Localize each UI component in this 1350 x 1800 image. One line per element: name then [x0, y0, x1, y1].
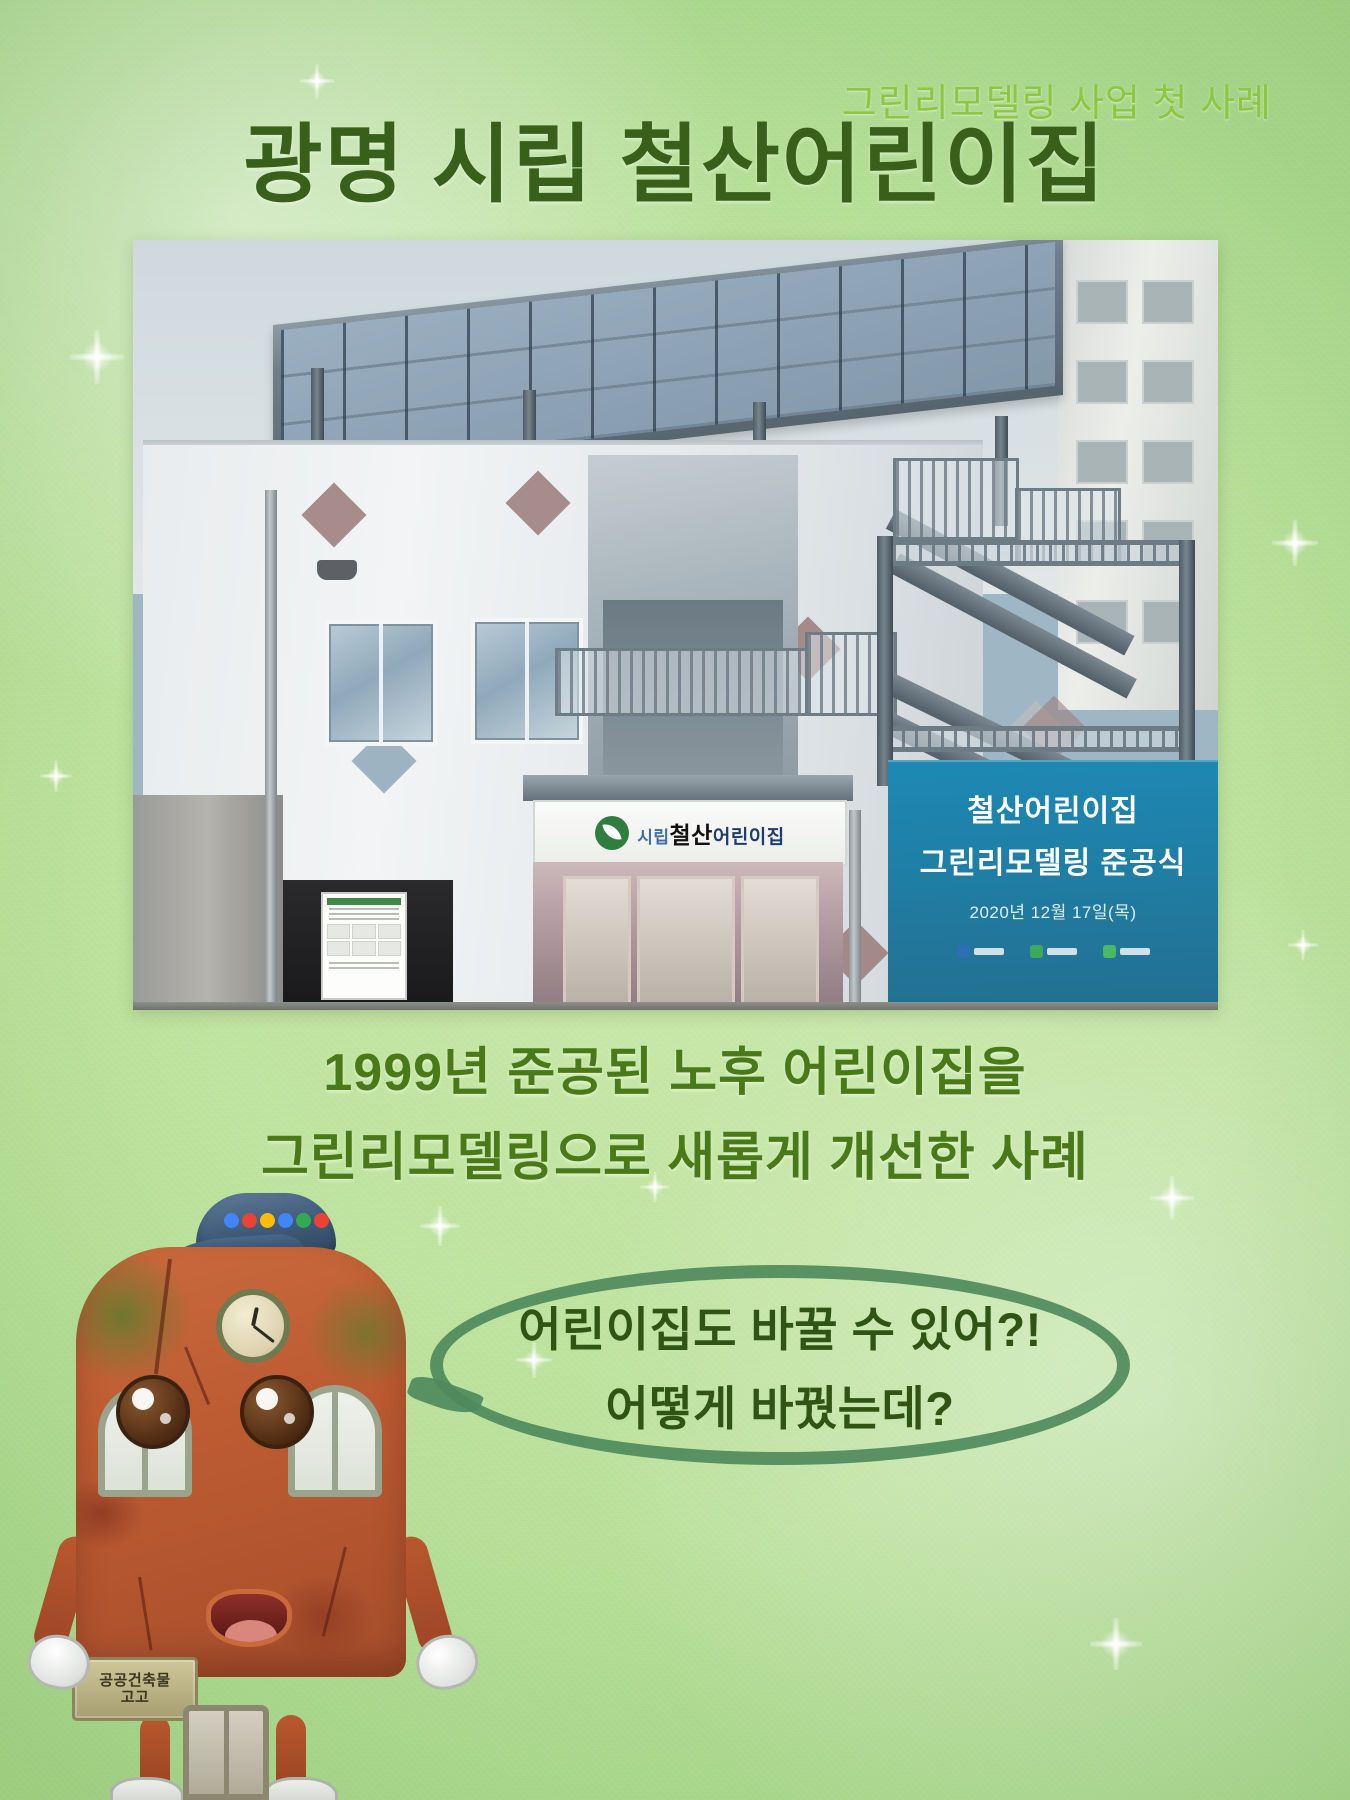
sparkle-icon [1090, 1618, 1142, 1670]
banner-line-1: 철산어린이집 [967, 786, 1139, 830]
stair-column [1179, 540, 1195, 770]
ceremony-banner: 철산어린이집 그린리모델링 준공식 2020년 12월 17일(목) [888, 760, 1218, 1010]
bubble-line-2: 어떻게 바꿨는데? [606, 1370, 955, 1439]
wall-lamp-icon [317, 560, 357, 580]
entrance-glass-panel [741, 876, 819, 1008]
nameplate-line-1: 공공건축물 [99, 1672, 171, 1689]
wall-crack [154, 1259, 172, 1375]
bubble-line-1: 어린이집도 바꿀 수 있어?! [518, 1291, 1041, 1360]
speech-bubble: 어린이집도 바꿀 수 있어?! 어떻게 바꿨는데? [430, 1265, 1130, 1465]
entrance-canopy [523, 775, 853, 801]
caption-line-2: 그린리모델링으로 새롭게 개선한 사례 [0, 1115, 1350, 1190]
mascot-pupil-right [240, 1375, 314, 1449]
poster-canvas: 그린리모델링 사업 첫 사례 광명 시립 철산어린이집 [0, 0, 1350, 1800]
entrance-glass-panel [637, 876, 735, 1008]
speech-bubble-text: 어린이집도 바꿀 수 있어?! 어떻게 바꿨는데? [430, 1265, 1130, 1465]
sparkle-icon [70, 330, 124, 384]
mascot-door [183, 1705, 269, 1800]
building-photo: 시립철산어린이집 [133, 240, 1218, 1010]
stair-landing-deck [893, 540, 1193, 566]
mascot-nameplate: 공공건축물 고고 [72, 1657, 198, 1721]
nameplate-line-2: 고고 [121, 1689, 150, 1706]
sign-prefix: 시립 [637, 828, 669, 847]
wall-crack [322, 1547, 347, 1637]
page-title: 광명 시립 철산어린이집 [0, 122, 1350, 208]
banner-date: 2020년 12월 17일(목) [970, 898, 1137, 923]
stair-landing-deck [889, 726, 1189, 752]
nursery-logo-icon [595, 816, 629, 850]
sparkle-icon [300, 64, 334, 98]
mascot-mouth [206, 1589, 292, 1647]
photo-content: 시립철산어린이집 [133, 240, 1218, 1010]
entrance-sign-text: 시립철산어린이집 [637, 816, 785, 850]
stair-column [877, 536, 893, 786]
balcony-railing [555, 648, 811, 716]
stair-landing-railing [893, 458, 1019, 540]
banner-sponsor-logos [957, 945, 1150, 958]
mascot-pupil-left [116, 1375, 190, 1449]
mascot-shoe-left [110, 1777, 184, 1800]
ground-line [133, 1002, 1218, 1010]
mascot-shoe-right [264, 1777, 338, 1800]
downpipe [849, 810, 861, 1010]
cap-logo-icon [224, 1213, 329, 1228]
left-base-wall [133, 795, 283, 1010]
mascot-character: 공공건축물 고고 [28, 1185, 488, 1800]
sign-suffix: 어린이집 [713, 827, 785, 848]
mascot-clock-icon [216, 1289, 290, 1363]
entrance-signboard: 시립철산어린이집 [533, 800, 847, 866]
caption-line-1: 1999년 준공된 노후 어린이집을 [0, 1030, 1350, 1105]
banner-line-2: 그린리모델링 준공식 [920, 838, 1187, 882]
wall-crack [184, 1346, 210, 1405]
sparkle-icon [40, 760, 72, 792]
downpipe [265, 490, 277, 1010]
sign-main: 철산 [670, 822, 713, 848]
notice-header-bar [327, 898, 401, 905]
sparkle-icon [1272, 520, 1318, 566]
entrance-doors [533, 862, 843, 1010]
sparkle-icon [1288, 930, 1318, 960]
sponsor-logo [957, 945, 1004, 958]
entrance-glass-panel [563, 876, 631, 1008]
sponsor-logo [1103, 945, 1150, 958]
facade-window [325, 620, 437, 746]
notice-poster [321, 892, 407, 1000]
wall-crack [138, 1577, 153, 1651]
notice-table [327, 924, 401, 956]
sponsor-logo [1030, 945, 1077, 958]
